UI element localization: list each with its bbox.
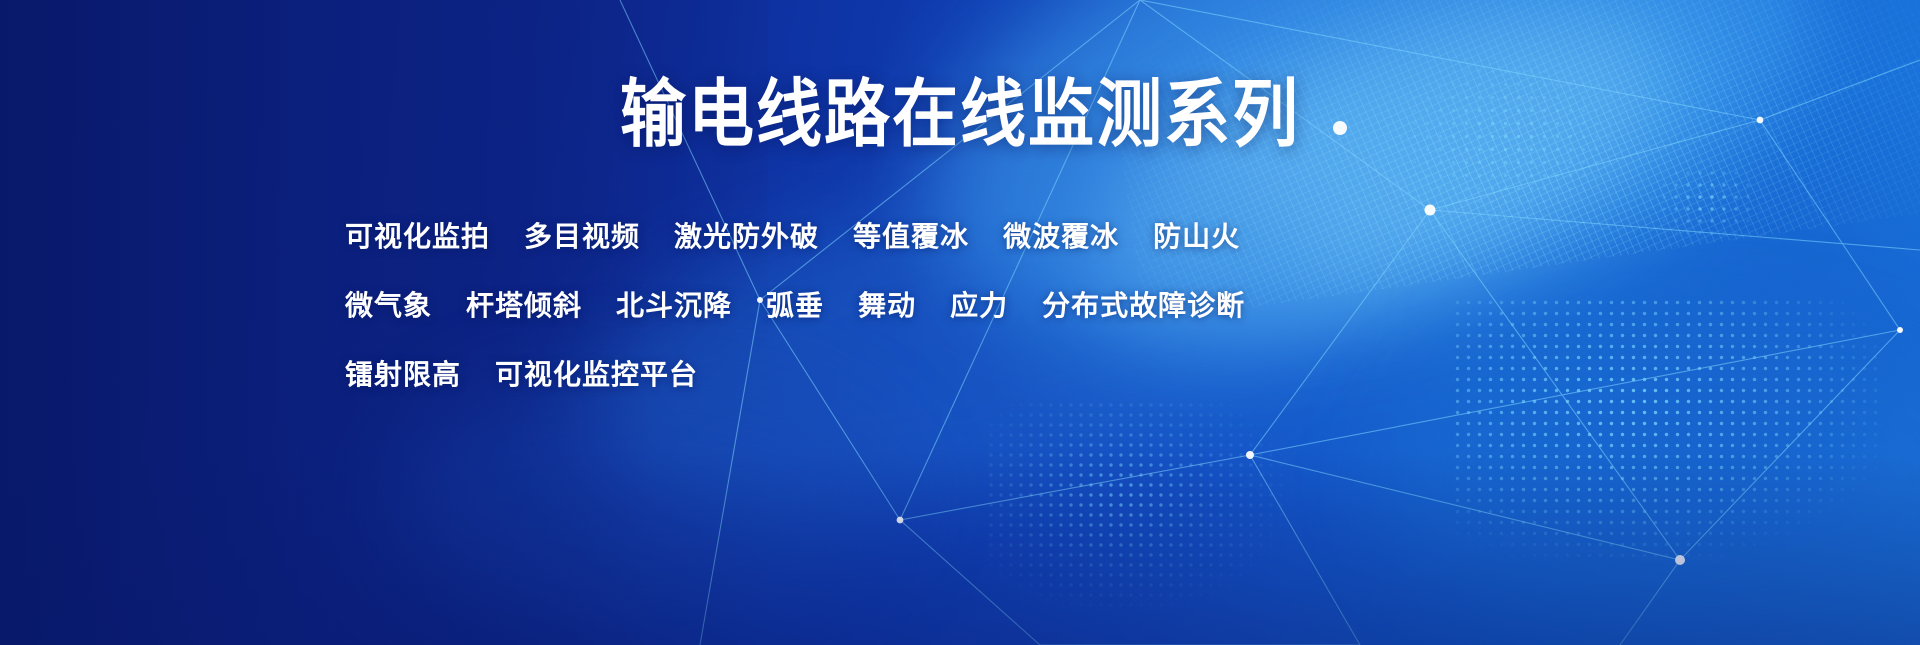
service-tag[interactable]: 防山火: [1153, 215, 1240, 255]
service-tag[interactable]: 可视化监拍: [345, 215, 490, 255]
service-tag[interactable]: 镭射限高: [345, 353, 461, 393]
service-tag[interactable]: 可视化监控平台: [495, 353, 698, 393]
service-tag[interactable]: 激光防外破: [674, 215, 819, 255]
service-tag[interactable]: 杆塔倾斜: [466, 284, 582, 324]
service-tag[interactable]: 多目视频: [524, 215, 640, 255]
service-tag[interactable]: 北斗沉降: [616, 284, 732, 324]
service-tag[interactable]: 微气象: [345, 284, 432, 324]
service-tag[interactable]: 舞动: [858, 284, 916, 324]
page-title: 输电线路在线监测系列: [0, 78, 1920, 152]
banner-content: 输电线路在线监测系列 可视化监拍 多目视频 激光防外破 等值覆冰 微波覆冰 防山…: [0, 0, 1920, 645]
service-tag[interactable]: 应力: [950, 284, 1008, 324]
tag-row: 镭射限高 可视化监控平台: [345, 338, 1345, 407]
service-tag[interactable]: 微波覆冰: [1003, 215, 1119, 255]
service-tag[interactable]: 等值覆冰: [853, 215, 969, 255]
hero-banner: 输电线路在线监测系列 可视化监拍 多目视频 激光防外破 等值覆冰 微波覆冰 防山…: [0, 0, 1920, 645]
tag-row: 可视化监拍 多目视频 激光防外破 等值覆冰 微波覆冰 防山火: [345, 200, 1345, 269]
service-tag-list: 可视化监拍 多目视频 激光防外破 等值覆冰 微波覆冰 防山火 微气象 杆塔倾斜 …: [345, 200, 1345, 407]
service-tag[interactable]: 分布式故障诊断: [1042, 284, 1245, 324]
service-tag[interactable]: 弧垂: [766, 284, 824, 324]
tag-row: 微气象 杆塔倾斜 北斗沉降 弧垂 舞动 应力 分布式故障诊断: [345, 269, 1345, 338]
